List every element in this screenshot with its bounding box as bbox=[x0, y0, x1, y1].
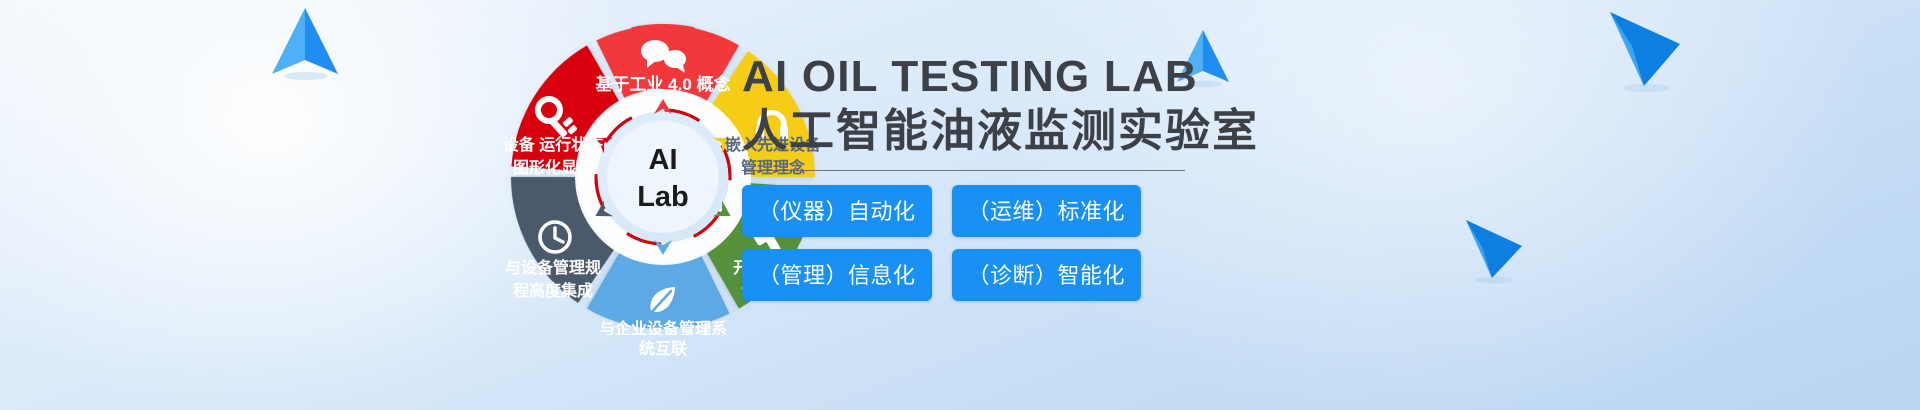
feature-tag-diagnosis-intelligence[interactable]: （诊断）智能化 bbox=[952, 249, 1142, 301]
wheel-label-procedure-integration-1: 程高度集成 bbox=[513, 281, 593, 300]
wheel-label-status-visualization-0: 设备 运行状态 bbox=[503, 135, 603, 154]
feature-tag-management-informatization[interactable]: （管理）信息化 bbox=[742, 249, 932, 301]
feature-tag-row: （仪器）自动化 （运维）标准化 bbox=[742, 185, 1197, 237]
feature-tag-row: （管理）信息化 （诊断）智能化 bbox=[742, 249, 1197, 301]
title-english: AI OIL TESTING LAB bbox=[742, 54, 1742, 101]
wheel-center-line2: Lab bbox=[637, 181, 689, 213]
wheel-label-enterprise-interconnect-1: 统互联 bbox=[385, 335, 941, 359]
wheel-label-enterprise-interconnect-0: 与企业设备管理系 bbox=[599, 319, 727, 335]
headline-block: AI OIL TESTING LAB 人工智能油液监测实验室 （仪器）自动化 （… bbox=[742, 54, 1742, 313]
wheel-inner-ring bbox=[586, 99, 740, 255]
wheel-label-status-visualization-1: 图形化显示 bbox=[513, 158, 593, 177]
wheel-label-procedure-integration-0: 与设备管理规 bbox=[505, 258, 601, 277]
wheel-label-industry40-0: 基于工业 4.0 概念 bbox=[594, 74, 730, 94]
wheel-center-line1: AI bbox=[649, 144, 678, 176]
title-divider bbox=[742, 170, 1185, 171]
title-chinese: 人工智能油液监测实验室 bbox=[742, 104, 1742, 157]
decorative-triangle-icon bbox=[272, 8, 338, 78]
feature-tag-instrument-automation[interactable]: （仪器）自动化 bbox=[742, 185, 932, 237]
banner-root: AI Lab bbox=[0, 0, 1920, 410]
feature-tag-ops-standardization[interactable]: （运维）标准化 bbox=[952, 185, 1142, 237]
feature-tag-grid: （仪器）自动化 （运维）标准化 （管理）信息化 （诊断）智能化 bbox=[742, 185, 1197, 301]
